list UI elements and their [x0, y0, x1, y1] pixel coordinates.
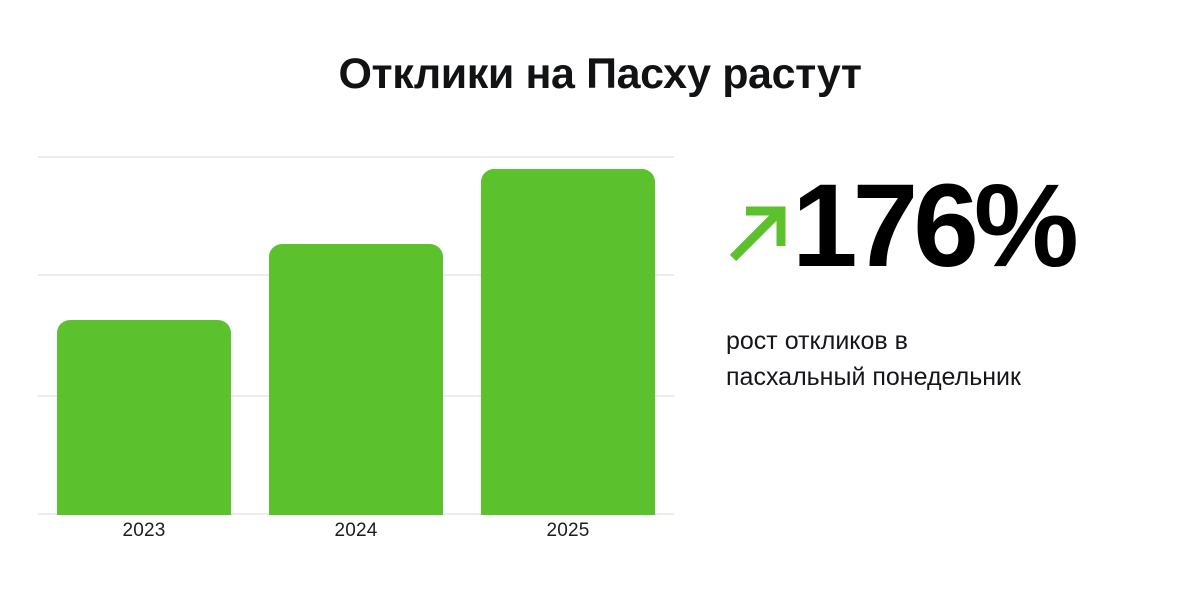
x-axis-label-2023: 2023	[38, 520, 250, 542]
bar-2025[interactable]	[481, 169, 655, 515]
stat-caption-line-1: рост откликов в	[726, 324, 1156, 360]
x-axis-label-2025: 2025	[462, 520, 674, 542]
chart-bars	[38, 150, 674, 515]
bar-2024[interactable]	[269, 244, 443, 515]
bar-slot-2025	[462, 150, 674, 515]
bar-chart: 2023 2024 2025	[38, 150, 678, 560]
x-axis-labels: 2023 2024 2025	[38, 520, 674, 542]
chart-plot-area: 2023 2024 2025	[38, 150, 674, 516]
bar-slot-2024	[250, 150, 462, 515]
stat-value: 176%	[792, 167, 1074, 285]
stat-caption: рост откликов в пасхальный понедельник	[726, 324, 1156, 395]
infographic-canvas: Отклики на Пасху растут	[0, 0, 1200, 600]
x-axis-label-2024: 2024	[250, 520, 462, 542]
stat-callout: 176% рост откликов в пасхальный понедель…	[726, 168, 1178, 395]
stat-caption-line-2: пасхальный понедельник	[726, 360, 1156, 396]
stat-headline-row: 176%	[726, 168, 1178, 284]
page-title: Отклики на Пасху растут	[0, 50, 1200, 98]
bar-2023[interactable]	[57, 320, 231, 515]
arrow-up-right-icon	[726, 201, 790, 265]
bar-slot-2023	[38, 150, 250, 515]
